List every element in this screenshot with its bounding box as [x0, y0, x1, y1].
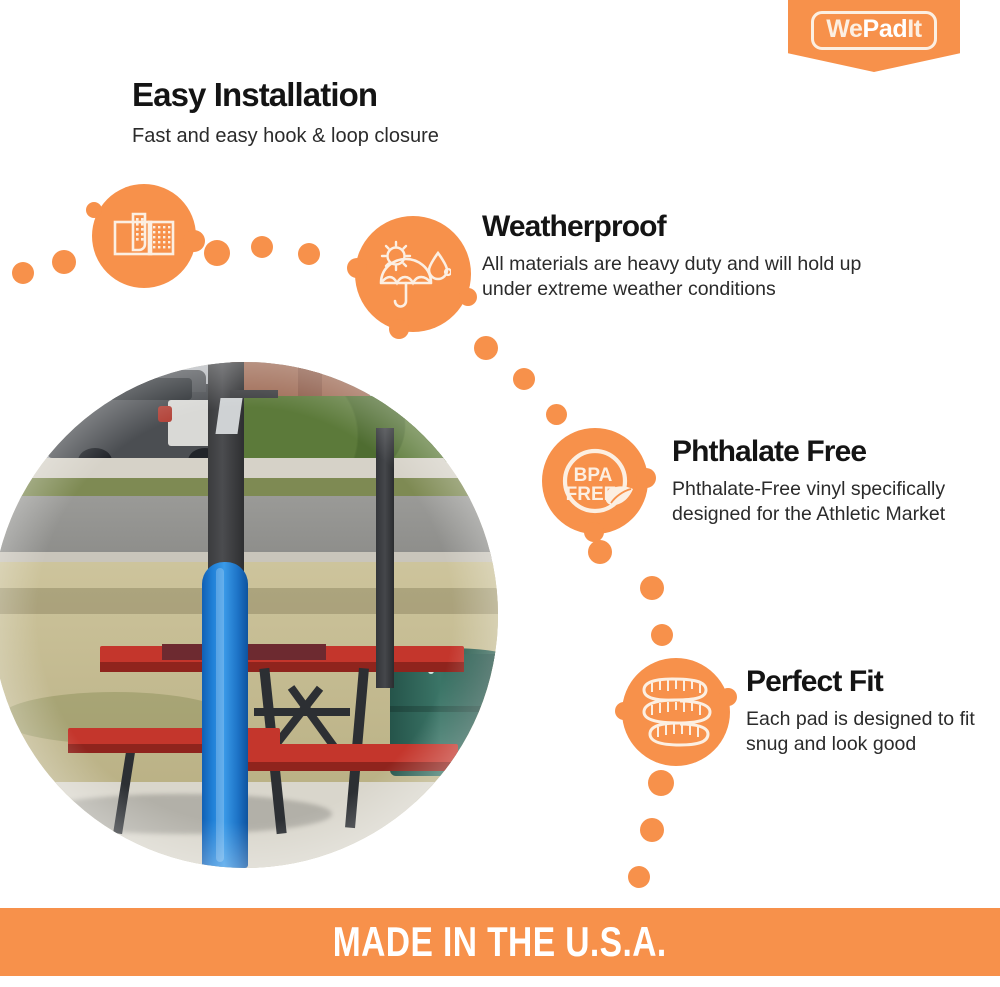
trail-dot — [474, 336, 498, 360]
trail-dot — [52, 250, 76, 274]
feature-block-easy-installation: Easy Installation Fast and easy hook & l… — [132, 78, 612, 149]
disc-bump — [389, 319, 409, 339]
trail-dot — [251, 236, 273, 258]
feature-block-weatherproof: Weatherproof All materials are heavy dut… — [482, 212, 912, 303]
trail-dot — [640, 818, 664, 842]
trail-dot — [298, 243, 320, 265]
disc-bump — [183, 230, 205, 252]
measuring-tape-icon — [636, 674, 716, 750]
feature-title-weatherproof: Weatherproof — [482, 212, 912, 243]
disc-bump — [347, 258, 367, 278]
trail-dot — [513, 368, 535, 390]
bpa-label: BPA — [574, 465, 613, 486]
feature-icon-perfect-fit — [622, 658, 730, 766]
disc-bump — [719, 688, 737, 706]
feature-description-phthalate-free: Phthalate-Free vinyl specifically design… — [672, 477, 962, 528]
disc-bump — [615, 702, 633, 720]
disc-bump — [636, 468, 656, 488]
trail-dot — [546, 404, 567, 425]
made-in-usa-text: MADE IN THE U.S.A. — [333, 918, 667, 966]
bpa-free-leaf-icon: BPA FREE — [553, 439, 637, 523]
disc-bump — [584, 522, 604, 542]
disc-bump — [459, 288, 477, 306]
product-photo-circle — [0, 362, 498, 868]
feature-title-perfect-fit: Perfect Fit — [746, 667, 978, 698]
product-features-infographic: WePadIt — [0, 0, 1000, 987]
feature-icon-phthalate-free: BPA FREE — [542, 428, 648, 534]
trail-dot — [648, 770, 674, 796]
trail-dot — [588, 540, 612, 564]
brand-outline: WePadIt — [811, 11, 936, 50]
brand-wordmark-part-pad: Pad — [863, 15, 908, 43]
sun-umbrella-rain-icon — [375, 239, 451, 309]
feature-description-perfect-fit: Each pad is designed to fit snug and loo… — [746, 707, 978, 758]
disc-bump — [86, 202, 102, 218]
feature-description-easy-installation: Fast and easy hook & loop closure — [132, 123, 612, 149]
trail-dot — [12, 262, 34, 284]
trail-dot — [204, 240, 230, 266]
made-in-usa-banner: MADE IN THE U.S.A. — [0, 908, 1000, 976]
trail-dot — [651, 624, 673, 646]
brand-badge: WePadIt — [788, 0, 960, 72]
brand-wordmark-part-we: We — [826, 15, 862, 43]
feature-block-phthalate-free: Phthalate Free Phthalate-Free vinyl spec… — [672, 437, 962, 528]
feature-icon-easy-installation — [92, 184, 196, 288]
photo-vignette — [0, 362, 498, 868]
feature-block-perfect-fit: Perfect Fit Each pad is designed to fit … — [746, 667, 978, 758]
trail-dot — [628, 866, 650, 888]
brand-wordmark-part-it: It — [907, 15, 921, 43]
feature-description-weatherproof: All materials are heavy duty and will ho… — [482, 252, 912, 303]
feature-icon-weatherproof — [355, 216, 471, 332]
brand-wordmark: WePadIt — [826, 15, 921, 43]
trail-dot — [640, 576, 664, 600]
feature-title-easy-installation: Easy Installation — [132, 78, 612, 112]
feature-title-phthalate-free: Phthalate Free — [672, 437, 962, 468]
hook-and-loop-icon — [113, 211, 175, 261]
